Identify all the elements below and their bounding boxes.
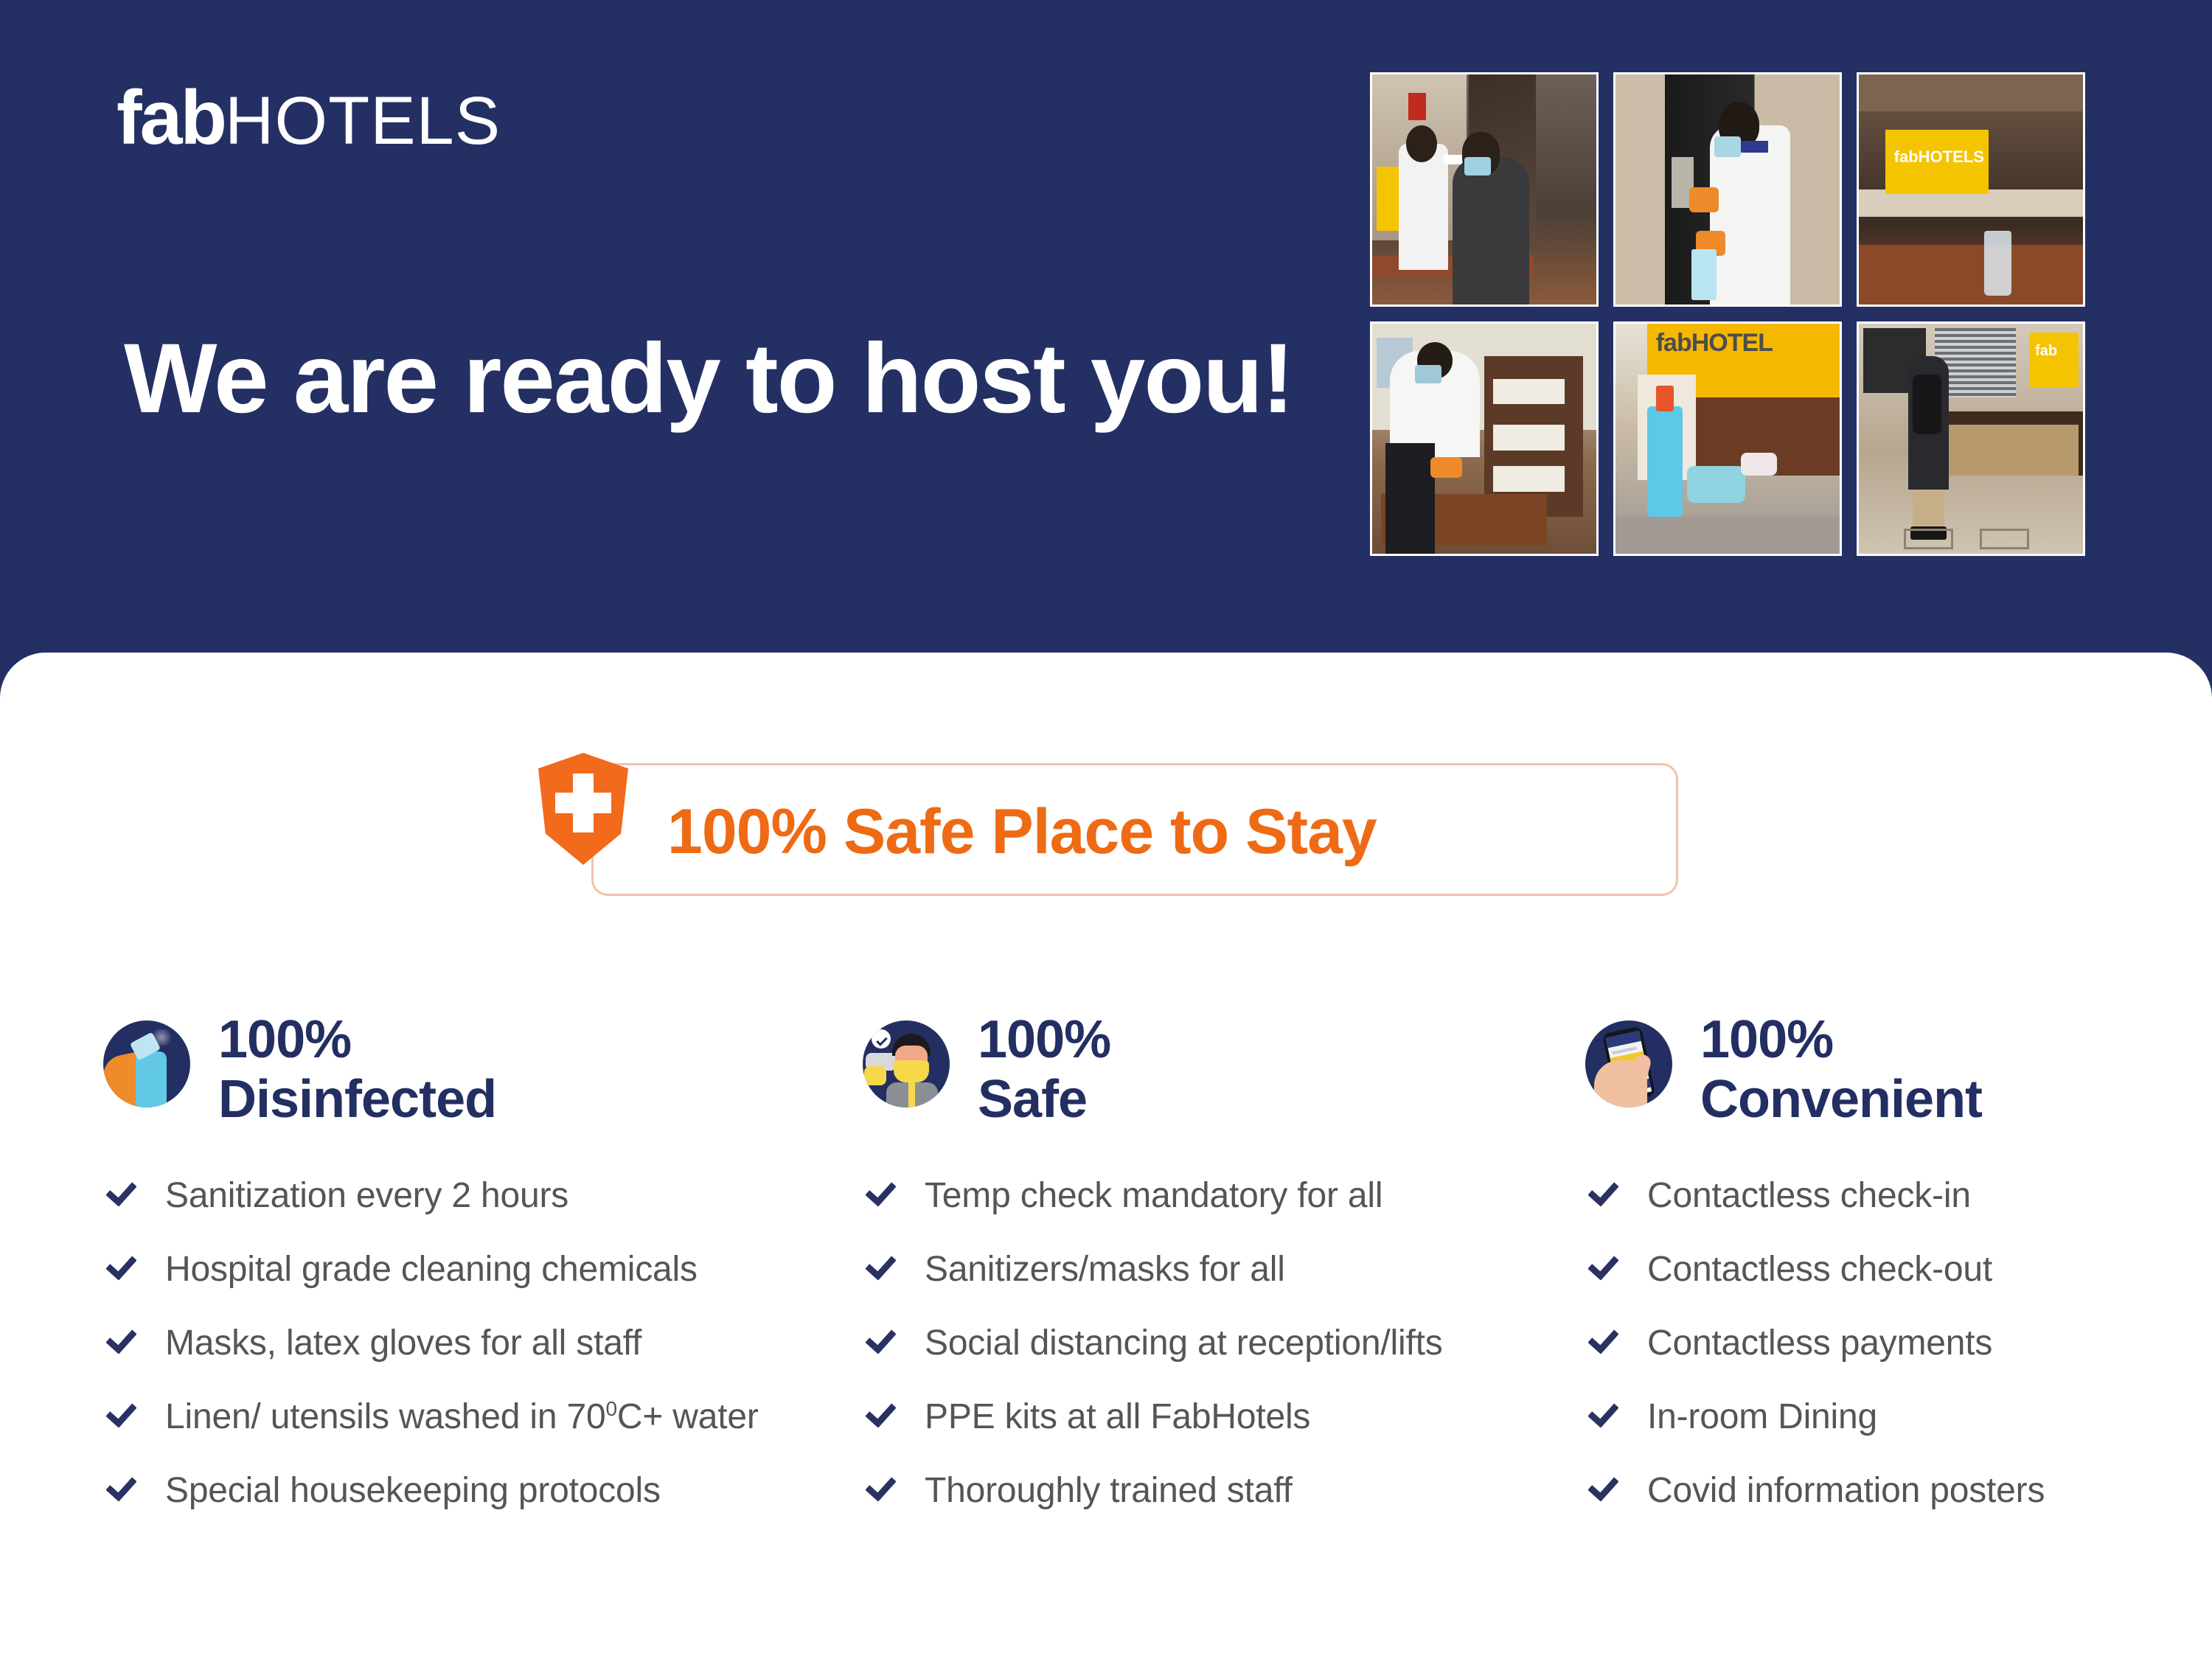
photo-tube (1741, 453, 1777, 476)
check-icon (863, 1400, 895, 1433)
page-title: We are ready to host you! (124, 324, 1293, 433)
list-item-label: PPE kits at all FabHotels (925, 1397, 1310, 1437)
photo-guest-mask (1464, 157, 1491, 175)
poster-root: fabHOTELS We are ready to host you! (0, 0, 2212, 1659)
check-icon (863, 1179, 895, 1211)
photo-cleaner-glove (1430, 457, 1462, 478)
check-icon (863, 1326, 895, 1359)
list-item: In-room Dining (1585, 1396, 2212, 1470)
list-item: Thoroughly trained staff (863, 1470, 1475, 1543)
list-item-label: In-room Dining (1647, 1397, 1877, 1437)
feature-column-convenient: 100% Convenient Contactless check-in Con… (1475, 1010, 2212, 1543)
check-icon (1585, 1253, 1618, 1285)
logo-fab-text: fab (116, 75, 225, 161)
mask-shape (894, 1060, 929, 1082)
photo-face-mask (1687, 466, 1745, 503)
check-icon (103, 1400, 136, 1433)
check-icon (863, 1253, 895, 1285)
list-item: Special housekeeping protocols (103, 1470, 737, 1543)
photo-marble (1859, 74, 2083, 111)
column-title: 100% Disinfected (218, 1010, 496, 1129)
list-item: Contactless check-in (1585, 1175, 2212, 1248)
list-item-label: Thoroughly trained staff (925, 1470, 1293, 1511)
photo-fabhotel-banner-text: fabHOTEL (1656, 330, 1773, 355)
list-item: Hospital grade cleaning chemicals (103, 1248, 737, 1322)
check-icon (103, 1326, 136, 1359)
column-percent: 100% (218, 1010, 496, 1070)
column-name: Safe (978, 1070, 1110, 1130)
photo-fabhotels-sign: fabHOTELS (1885, 130, 1989, 194)
shield-cross-horizontal (555, 793, 611, 813)
photo-grid: fabHOTELS (1370, 72, 2107, 556)
mist-shape (149, 1029, 174, 1046)
column-name: Convenient (1700, 1070, 1982, 1130)
list-item: Sanitizers/masks for all (863, 1248, 1475, 1322)
photo-sanitizer-jar (1984, 231, 2011, 295)
feature-column-disinfected: 100% Disinfected Sanitization every 2 ho… (0, 1010, 737, 1543)
photo-staff-head (1406, 125, 1438, 162)
fabhotels-logo[interactable]: fabHOTELS (116, 80, 501, 156)
temperature-check-icon (863, 1020, 950, 1107)
list-item: PPE kits at all FabHotels (863, 1396, 1475, 1470)
list-item-label: Temp check mandatory for all (925, 1175, 1382, 1216)
photo-leaflet (1493, 379, 1565, 404)
list-item-label: Masks, latex gloves for all staff (165, 1323, 641, 1363)
tie-shape (908, 1082, 915, 1107)
screen-navbar (1606, 1031, 1641, 1048)
list-item: Contactless payments (1585, 1322, 2212, 1396)
photo-pump-head (1656, 386, 1674, 411)
column-title: 100% Convenient (1700, 1010, 1982, 1129)
photo-desk (1859, 245, 2083, 305)
check-icon (863, 1474, 895, 1506)
bullet-list: Sanitization every 2 hours Hospital grad… (103, 1175, 737, 1543)
photo-fab-sign-text: fab (2035, 343, 2057, 360)
check-icon (1585, 1326, 1618, 1359)
safe-place-badge: 100% Safe Place to Stay (538, 763, 1678, 896)
photo-spray-bottle (1691, 249, 1716, 300)
column-header: 100% Disinfected (103, 1010, 737, 1169)
list-item-label: Contactless check-in (1647, 1175, 1971, 1216)
approved-check-badge (872, 1029, 891, 1048)
check-icon (1585, 1179, 1618, 1211)
degree-superscript: 0 (605, 1397, 616, 1420)
bullet-list: Contactless check-in Contactless check-o… (1585, 1175, 2212, 1543)
photo-cleaner-mask (1415, 365, 1441, 383)
column-header: 100% Safe (863, 1010, 1475, 1169)
check-icon (103, 1474, 136, 1506)
photo-leaflet (1493, 425, 1565, 450)
column-percent: 100% (978, 1010, 1110, 1070)
list-item: Temp check mandatory for all (863, 1175, 1475, 1248)
gloved-hand-shape (864, 1066, 886, 1085)
column-title: 100% Safe (978, 1010, 1110, 1129)
photo-reception-distancing: fab (1857, 321, 2085, 556)
list-item-label: Linen/ utensils washed in 700C+ water (165, 1397, 759, 1437)
list-item-label: Special housekeeping protocols (165, 1470, 661, 1511)
check-icon (1585, 1400, 1618, 1433)
photo-floor-marker (1980, 529, 2029, 549)
list-item: Masks, latex gloves for all staff (103, 1322, 737, 1396)
check-icon (1585, 1474, 1618, 1506)
photo-cleaner-pants (1385, 443, 1435, 554)
photo-guest (1453, 157, 1528, 305)
list-item-label: Hospital grade cleaning chemicals (165, 1249, 698, 1290)
photo-worker-mask (1714, 136, 1741, 157)
list-item-label: Contactless check-out (1647, 1249, 1992, 1290)
feature-column-safe: 100% Safe Temp check mandatory for all S… (737, 1010, 1475, 1543)
photo-sanitizer-bottle (1647, 406, 1683, 517)
mobile-phone-icon (1585, 1020, 1672, 1107)
photo-staff (1399, 144, 1448, 271)
photo-hotel-signage: fabHOTELS (1857, 72, 2085, 307)
list-item: Social distancing at reception/lifts (863, 1322, 1475, 1396)
list-item-label: Covid information posters (1647, 1470, 2045, 1511)
photo-desk-panel (1949, 425, 2079, 476)
photo-elevator-sanitizing (1613, 72, 1842, 307)
photo-sanitizer-counter: fabHOTEL (1613, 321, 1842, 556)
photo-red-sign (1408, 93, 1426, 120)
bullet-list: Temp check mandatory for all Sanitizers/… (863, 1175, 1475, 1543)
check-icon (103, 1253, 136, 1285)
list-item: Sanitization every 2 hours (103, 1175, 737, 1248)
list-item: Contactless check-out (1585, 1248, 2212, 1322)
feature-columns: 100% Disinfected Sanitization every 2 ho… (0, 1010, 2212, 1543)
list-item-label: Sanitization every 2 hours (165, 1175, 568, 1216)
photo-glove-upper (1689, 187, 1719, 212)
photo-fab-sign: fab (2029, 333, 2079, 388)
list-item: Covid information posters (1585, 1470, 2212, 1543)
photo-floor-marker (1904, 529, 1953, 549)
photo-counter-top (1615, 517, 1840, 554)
logo-hotels-text: HOTELS (225, 83, 501, 159)
bottle-shape (136, 1051, 167, 1107)
list-item: Linen/ utensils washed in 700C+ water (103, 1396, 737, 1470)
photo-fabhotels-sign-text: fabHOTELS (1894, 149, 1984, 165)
check-icon (103, 1179, 136, 1211)
photo-backpack (1913, 375, 1942, 434)
list-item-label: Social distancing at reception/lifts (925, 1323, 1443, 1363)
spray-bottle-icon (103, 1020, 190, 1107)
column-header: 100% Convenient (1585, 1010, 2212, 1169)
hero-section: fabHOTELS We are ready to host you! (0, 0, 2212, 678)
column-percent: 100% (1700, 1010, 1982, 1070)
list-item-label-main: Linen/ utensils washed in 70 (165, 1397, 605, 1436)
list-item-label: Contactless payments (1647, 1323, 1992, 1363)
column-name: Disinfected (218, 1070, 496, 1130)
list-item-label: Sanitizers/masks for all (925, 1249, 1285, 1290)
badge-label: 100% Safe Place to Stay (667, 796, 1377, 869)
photo-leaflet (1493, 466, 1565, 491)
photo-temp-check (1370, 72, 1599, 307)
photo-furniture-cleaning (1370, 321, 1599, 556)
